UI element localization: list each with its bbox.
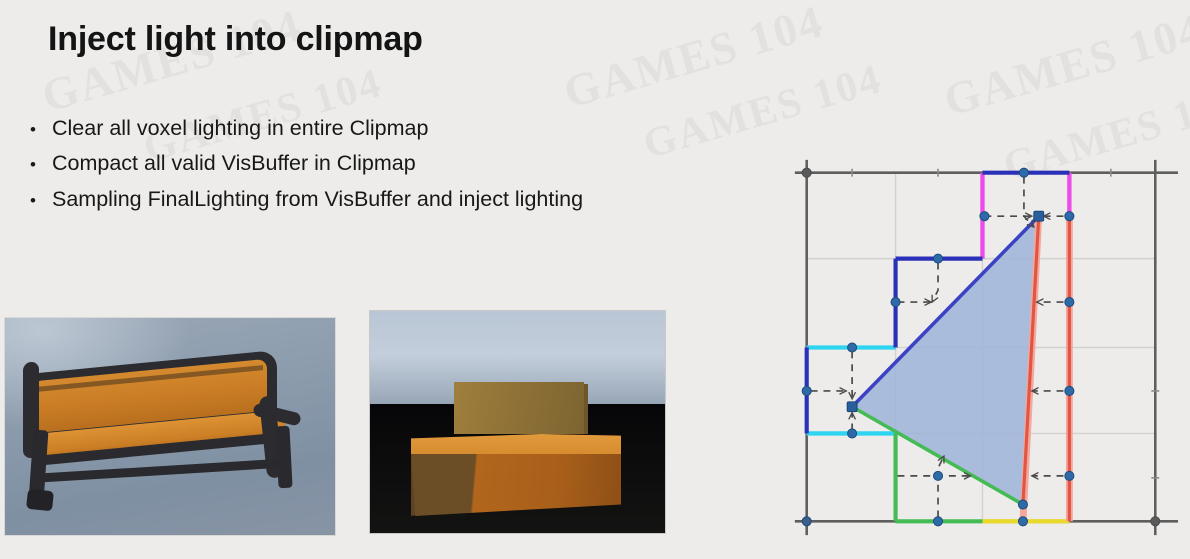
clipmap-diagram bbox=[780, 150, 1180, 545]
watermark-text: GAMES 104 bbox=[36, 0, 307, 123]
list-item: • Clear all voxel lighting in entire Cli… bbox=[14, 116, 754, 141]
slide-title: Inject light into clipmap bbox=[48, 20, 423, 59]
bench-left-foot bbox=[26, 489, 54, 512]
bullet-list: • Clear all voxel lighting in entire Cli… bbox=[14, 116, 754, 222]
voxel-backrest bbox=[454, 382, 584, 434]
bullet-marker-icon: • bbox=[14, 120, 52, 140]
clipmap-diagram-svg bbox=[780, 150, 1180, 545]
bullet-text: Clear all voxel lighting in entire Clipm… bbox=[52, 116, 428, 141]
list-item: • Compact all valid VisBuffer in Clipmap bbox=[14, 151, 754, 176]
bench-right-leg bbox=[275, 426, 292, 489]
voxel-bench-image bbox=[370, 311, 665, 533]
bullet-marker-icon: • bbox=[14, 155, 52, 175]
smooth-bench-image bbox=[5, 318, 335, 535]
bullet-text: Sampling FinalLighting from VisBuffer an… bbox=[52, 187, 583, 212]
watermark-text: GAMES 104 bbox=[558, 0, 829, 119]
bullet-text: Compact all valid VisBuffer in Clipmap bbox=[52, 151, 416, 176]
slide-root: GAMES 104 GAMES 104 GAMES 104 GAMES 104 … bbox=[0, 0, 1190, 559]
watermark-text: GAMES 104 bbox=[938, 2, 1190, 127]
list-item: • Sampling FinalLighting from VisBuffer … bbox=[14, 187, 754, 212]
bullet-marker-icon: • bbox=[14, 191, 52, 211]
voxel-backrest-side bbox=[584, 384, 588, 434]
